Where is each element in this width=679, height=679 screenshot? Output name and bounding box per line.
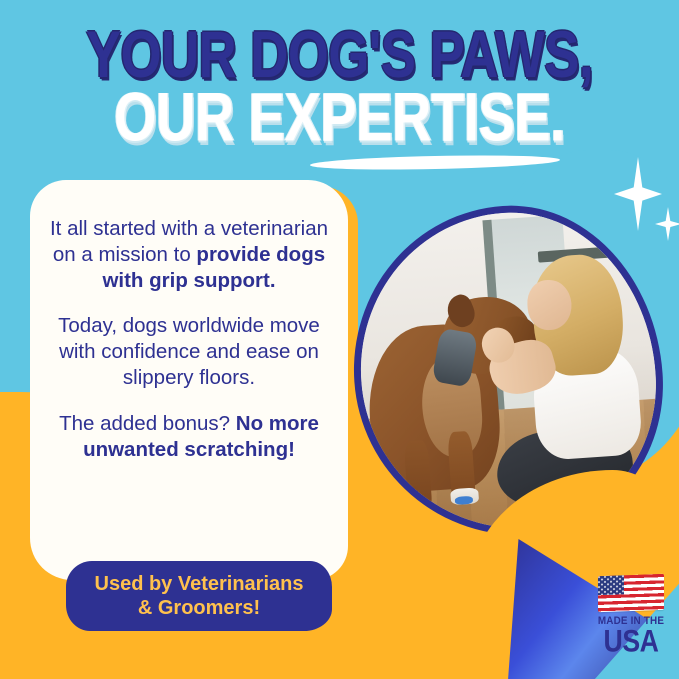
flag-stars xyxy=(598,575,624,595)
headline: YOUR DOG'S PAWS, OUR EXPERTISE. xyxy=(0,24,679,139)
made-in-usa-emblem: MADE IN THE USA xyxy=(588,575,674,657)
headline-line-1: YOUR DOG'S PAWS, xyxy=(20,24,658,85)
poster-root: YOUR DOG'S PAWS, OUR EXPERTISE. It all s… xyxy=(0,0,679,679)
headline-line-2: OUR EXPERTISE. xyxy=(20,86,658,149)
story-paragraph-2: Today, dogs worldwide move with confiden… xyxy=(49,313,329,390)
story-paragraph-3: The added bonus? No more unwanted scratc… xyxy=(49,411,329,463)
story-paragraph-3-plain: The added bonus? xyxy=(59,412,236,435)
story-card-body: It all started with a veterinarian on a … xyxy=(30,194,348,566)
made-in-usa-big-text: USA xyxy=(591,627,670,658)
badge-line-1: Used by Veterinarians xyxy=(95,573,304,595)
story-paragraph-1: It all started with a veterinarian on a … xyxy=(49,216,329,293)
badge-text: Used by Veterinarians& Groomers! xyxy=(95,572,304,620)
badge-line-2: & Groomers! xyxy=(138,597,260,619)
us-flag-icon xyxy=(598,574,664,612)
status-badge: Used by Veterinarians& Groomers! xyxy=(66,561,332,631)
